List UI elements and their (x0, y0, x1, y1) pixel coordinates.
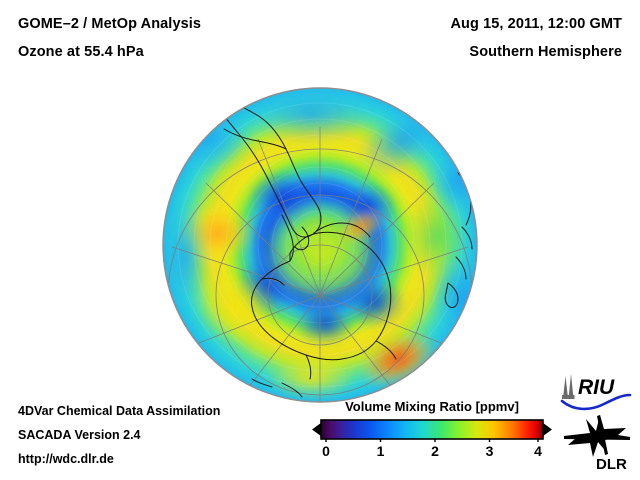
riu-logo: RIU (556, 371, 634, 413)
footer-method: 4DVar Chemical Data Assimilation (18, 404, 220, 418)
globe-svg (162, 87, 478, 403)
globe-map (162, 87, 478, 403)
riu-wordmark: RIU (578, 376, 615, 399)
colorbar-tick-3: 3 (475, 443, 505, 459)
colorbar: Volume Mixing Ratio [ppmv] (312, 399, 552, 471)
header-datetime: Aug 15, 2011, 12:00 GMT (450, 16, 622, 32)
dlr-logo: DLR (560, 414, 634, 472)
header-instrument-line: GOME–2 / MetOp Analysis (18, 16, 201, 32)
colorbar-tick-labels: 0 1 2 3 4 (312, 443, 552, 465)
cathedral-spires-icon (562, 374, 575, 399)
dlr-mark-icon (564, 415, 630, 457)
dlr-logo-svg: DLR (560, 414, 634, 472)
colorbar-tick-2: 2 (420, 443, 450, 459)
colorbar-tick-0: 0 (311, 443, 341, 459)
colorbar-gradient (312, 418, 552, 442)
colorbar-tick-1: 1 (366, 443, 396, 459)
footer-url[interactable]: http://wdc.dlr.de (18, 452, 114, 466)
figure-canvas: GOME–2 / MetOp Analysis Ozone at 55.4 hP… (0, 0, 640, 480)
riu-logo-svg: RIU (556, 371, 634, 413)
colorbar-tick-4: 4 (523, 443, 553, 459)
footer-version: SACADA Version 2.4 (18, 428, 141, 442)
header-quantity-line: Ozone at 55.4 hPa (18, 44, 144, 60)
colorbar-title: Volume Mixing Ratio [ppmv] (312, 399, 552, 414)
dlr-wordmark: DLR (596, 456, 627, 472)
header-region: Southern Hemisphere (469, 44, 622, 60)
